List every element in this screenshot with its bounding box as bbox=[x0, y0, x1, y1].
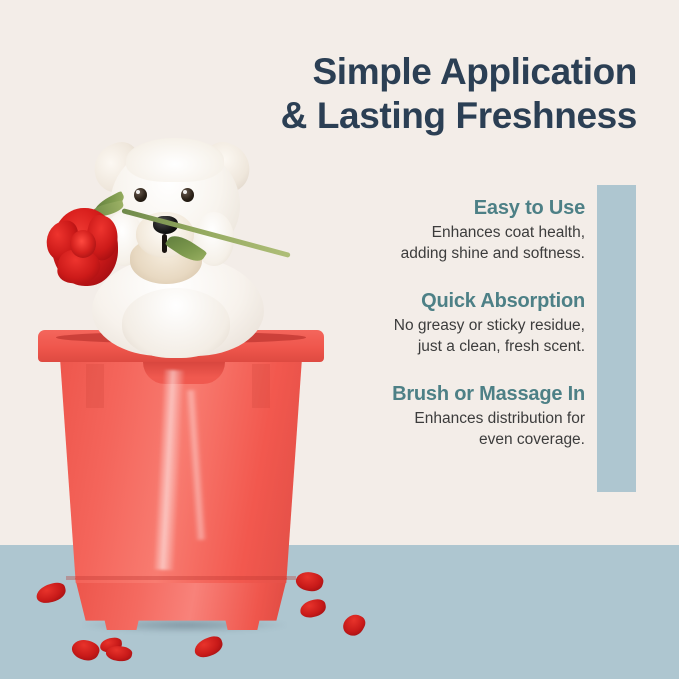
feature-description-line-1: Enhances coat health, bbox=[335, 223, 585, 244]
rose-petal bbox=[340, 611, 368, 640]
dog-eye-glint-right bbox=[183, 190, 187, 194]
bin-rib-right bbox=[252, 364, 270, 408]
feature-item-easy-to-use: Easy to Use Enhances coat health, adding… bbox=[335, 196, 585, 265]
feature-description: Enhances distribution for even coverage. bbox=[335, 409, 585, 451]
feature-title: Easy to Use bbox=[335, 196, 585, 220]
red-storage-bin bbox=[38, 330, 324, 630]
feature-description-line-2: adding shine and softness. bbox=[335, 244, 585, 265]
headline-line-1: Simple Application bbox=[217, 50, 637, 94]
page-title: Simple Application & Lasting Freshness bbox=[217, 50, 637, 137]
feature-description-line-2: even coverage. bbox=[335, 430, 585, 451]
rose-petal-shape bbox=[69, 636, 102, 665]
dog-topknot-fur bbox=[126, 138, 224, 182]
accent-bar bbox=[597, 185, 636, 492]
bin-rib-left bbox=[86, 364, 104, 408]
rose-petal bbox=[69, 636, 102, 665]
dog-eye-glint-left bbox=[136, 190, 140, 194]
red-rose bbox=[46, 196, 296, 304]
feature-description: Enhances coat health, adding shine and s… bbox=[335, 223, 585, 265]
rose-petal-shape bbox=[105, 644, 133, 663]
feature-description-line-2: just a clean, fresh scent. bbox=[335, 337, 585, 358]
rose-leaf-upper bbox=[165, 230, 208, 266]
promo-infographic: Simple Application & Lasting Freshness E… bbox=[0, 0, 679, 679]
bin-ridge bbox=[66, 576, 296, 580]
rose-stem bbox=[121, 208, 290, 258]
headline-line-2: & Lasting Freshness bbox=[217, 94, 637, 138]
feature-title: Quick Absorption bbox=[335, 289, 585, 313]
rose-petal bbox=[105, 644, 133, 663]
rose-petal bbox=[192, 634, 225, 660]
rose-petal-shape bbox=[340, 611, 368, 640]
feature-list: Easy to Use Enhances coat health, adding… bbox=[335, 196, 585, 451]
feature-item-quick-absorption: Quick Absorption No greasy or sticky res… bbox=[335, 289, 585, 358]
feature-description-line-1: Enhances distribution for bbox=[335, 409, 585, 430]
rose-center bbox=[70, 230, 96, 258]
feature-title: Brush or Massage In bbox=[335, 382, 585, 406]
feature-description: No greasy or sticky residue, just a clea… bbox=[335, 316, 585, 358]
feature-description-line-1: No greasy or sticky residue, bbox=[335, 316, 585, 337]
rose-petal-shape bbox=[192, 634, 225, 660]
feature-item-brush-or-massage-in: Brush or Massage In Enhances distributio… bbox=[335, 382, 585, 451]
